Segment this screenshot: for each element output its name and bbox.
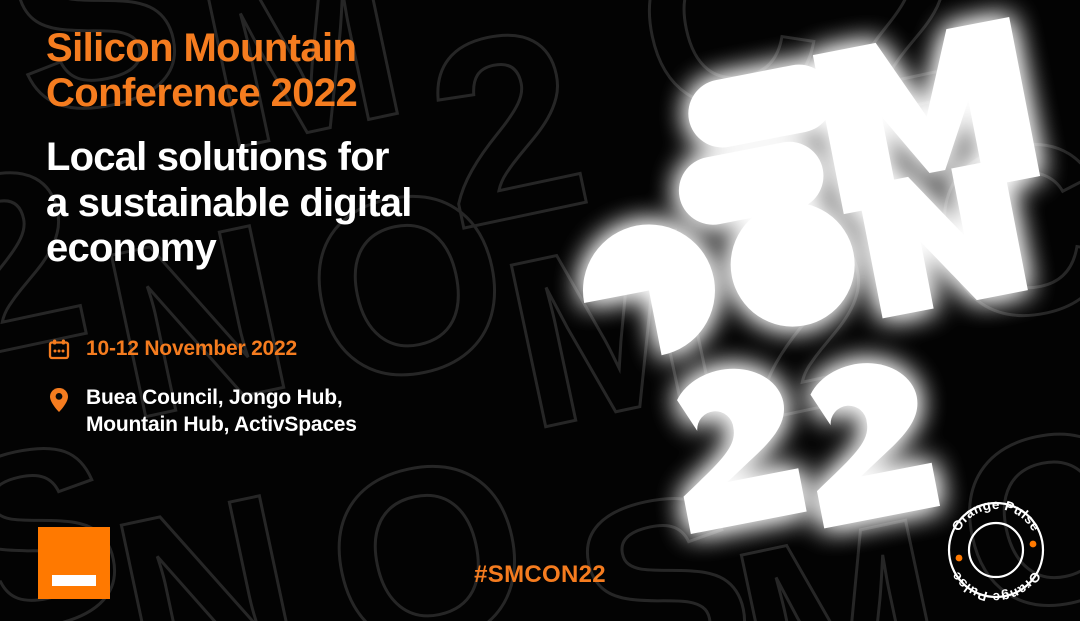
map-pin-icon [46, 385, 72, 413]
badge-dot-right [1030, 541, 1037, 548]
badge-inner-ring [969, 523, 1023, 577]
venue-row: Buea Council, Jongo Hub, Mountain Hub, A… [46, 385, 357, 439]
badge-text-top: Orange Pulse [949, 497, 1044, 534]
page-title: Silicon Mountain Conference 2022 [46, 0, 556, 116]
date-row: 10-12 November 2022 [46, 336, 357, 363]
orange-pulse-badge: Orange Pulse Orange Pulse [938, 492, 1054, 608]
event-poster: S M 2 C 2 2 N O M 2 C S N O S M O [0, 0, 1080, 621]
event-details: 10-12 November 2022 Buea Council, Jongo … [46, 336, 357, 461]
bg-letter-n2: N [95, 442, 320, 621]
event-tagline: Local solutions for a sustainable digita… [46, 116, 556, 271]
badge-text-bottom: Orange Pulse [948, 569, 1044, 605]
event-hashtag: #SMCON22 [0, 561, 1080, 589]
event-venue: Buea Council, Jongo Hub, Mountain Hub, A… [86, 385, 357, 439]
smcon22-lockup [575, 20, 1035, 520]
headline-block: Silicon Mountain Conference 2022 Local s… [46, 0, 556, 271]
badge-dot-left [956, 555, 963, 562]
calendar-icon [46, 336, 72, 360]
event-date: 10-12 November 2022 [86, 336, 297, 363]
